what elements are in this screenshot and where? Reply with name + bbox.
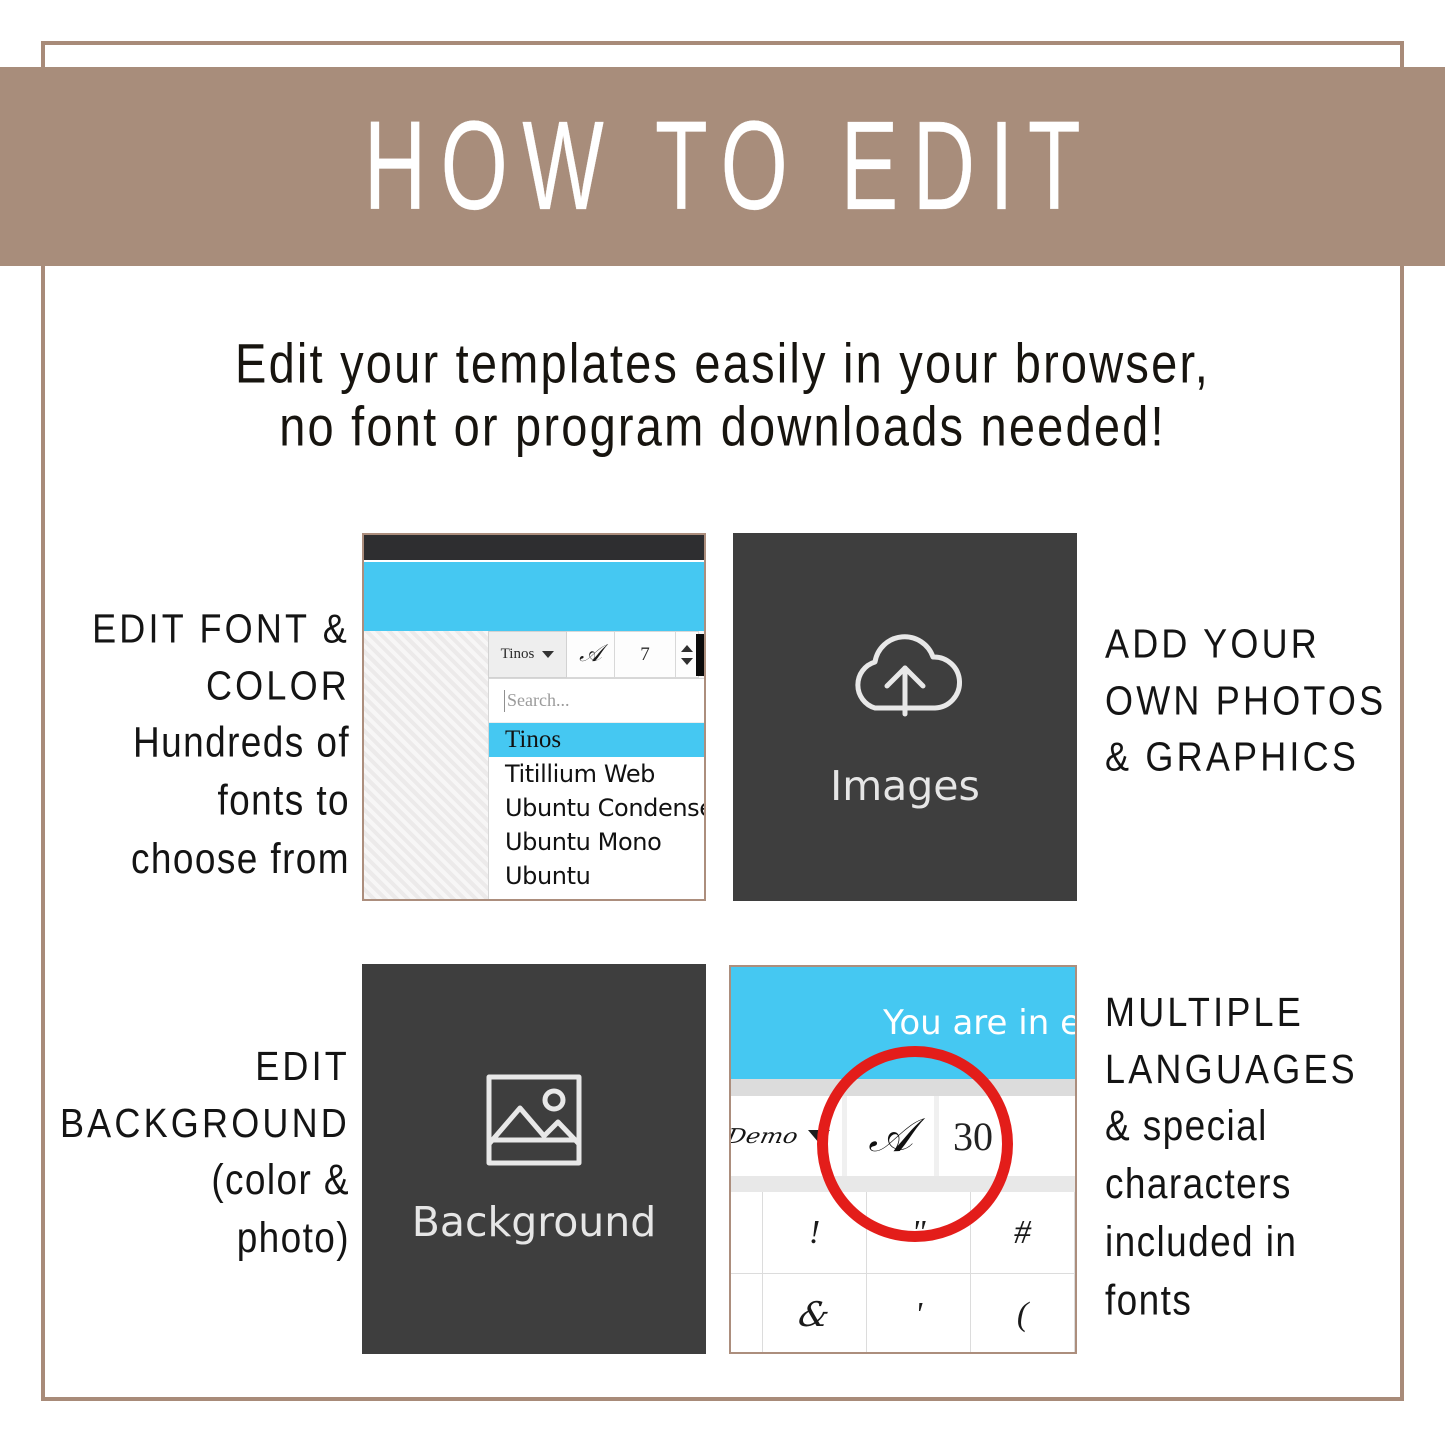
character-glyph: ': [915, 1296, 922, 1334]
character-cell[interactable]: !: [763, 1192, 867, 1274]
caption-edit-font-color: EDIT FONT & COLOR Hundreds of fonts to c…: [20, 600, 350, 888]
caption-add-photos: ADD YOUR OWN PHOTOS & GRAPHICS: [1105, 616, 1445, 786]
toolbar-color-swatch[interactable]: [696, 634, 706, 676]
images-label: Images: [830, 762, 980, 810]
caption-line: EDIT FONT &: [20, 600, 350, 657]
grid-gutter-cell: [731, 1192, 763, 1274]
font-size-input[interactable]: 30: [939, 1096, 1069, 1176]
subtitle-line-2: no font or program downloads needed!: [0, 395, 1445, 458]
editor-banner: [364, 562, 704, 631]
character-cell[interactable]: (: [971, 1274, 1075, 1354]
caption-line: characters: [1105, 1155, 1445, 1213]
character-glyph: !: [809, 1214, 820, 1252]
charmap-toolbar: Demo 𝒜 30: [731, 1096, 1075, 1176]
character-cell[interactable]: #: [971, 1192, 1075, 1274]
font-list-item[interactable]: Ubuntu Mono: [489, 825, 706, 859]
toolbar-divider: [731, 1079, 1075, 1096]
font-family-value: Tinos: [501, 646, 535, 663]
caption-line: ADD YOUR: [1105, 616, 1445, 673]
font-family-value: Demo: [729, 1124, 800, 1148]
caption-line: fonts: [1105, 1272, 1445, 1330]
character-map-screenshot: You are in e Demo 𝒜 30 ! " # & ' (: [729, 965, 1077, 1354]
caption-line: fonts to: [20, 772, 350, 830]
font-list-item[interactable]: Tinos: [489, 723, 706, 757]
grid-divider: [731, 1176, 1075, 1192]
images-panel-screenshot: Images: [733, 533, 1077, 901]
cloud-upload-icon: [841, 624, 969, 728]
caption-line: LANGUAGES: [1105, 1040, 1445, 1097]
caption-line: choose from: [20, 830, 350, 888]
chevron-down-icon[interactable]: [681, 658, 693, 665]
character-glyph: #: [1014, 1214, 1031, 1252]
caption-line: MULTIPLE: [1105, 984, 1445, 1041]
script-a-icon[interactable]: 𝒜: [567, 631, 615, 678]
caption-line: (color &: [20, 1151, 350, 1209]
editor-titlebar: [364, 535, 704, 560]
subtitle-line-1: Edit your templates easily in your brows…: [235, 332, 1210, 395]
font-family-dropdown[interactable]: Tinos: [488, 631, 567, 678]
font-list-item[interactable]: Titillium Web: [489, 757, 706, 791]
character-cell[interactable]: ": [867, 1192, 971, 1274]
caption-line: BACKGROUND: [20, 1095, 350, 1152]
caption-line: EDIT: [20, 1038, 350, 1095]
font-dropdown-panel: Search... Tinos Titillium Web Ubuntu Con…: [488, 678, 706, 901]
poster-root: HOW TO EDIT Edit your templates easily i…: [0, 0, 1445, 1445]
character-cell[interactable]: ': [867, 1274, 971, 1354]
picture-icon: [484, 1072, 584, 1168]
font-picker-screenshot: Tinos 𝒜 7 Search... Tinos Titillium Web …: [362, 533, 706, 901]
caption-line: & GRAPHICS: [1105, 729, 1445, 786]
font-toolbar: Tinos 𝒜 7: [488, 631, 706, 678]
chevron-down-icon: [542, 651, 554, 658]
font-search-input[interactable]: Search...: [489, 679, 706, 723]
banner-text: You are in e: [883, 1003, 1077, 1043]
character-glyph: ": [911, 1214, 925, 1252]
editor-banner: You are in e: [731, 967, 1075, 1079]
character-grid: ! " # & ' (: [731, 1192, 1075, 1354]
font-list: Tinos Titillium Web Ubuntu Condensed Ubu…: [489, 723, 706, 893]
font-size-input[interactable]: 7: [615, 631, 676, 678]
caption-line: photo): [20, 1209, 350, 1267]
font-family-dropdown[interactable]: Demo: [731, 1096, 847, 1176]
caption-multiple-languages: MULTIPLE LANGUAGES & special characters …: [1105, 984, 1445, 1330]
caption-line: OWN PHOTOS: [1105, 672, 1445, 729]
caption-line: COLOR: [20, 657, 350, 714]
character-glyph: (: [1017, 1296, 1028, 1334]
caption-edit-background: EDIT BACKGROUND (color & photo): [20, 1038, 350, 1268]
chevron-down-icon: [808, 1130, 830, 1143]
caption-line: included in: [1105, 1213, 1445, 1271]
caption-line: Hundreds of: [20, 714, 350, 772]
font-list-item[interactable]: Ubuntu Condensed: [489, 791, 706, 825]
grid-gutter-cell: [731, 1274, 763, 1354]
subtitle: Edit your templates easily in your brows…: [0, 332, 1445, 457]
header-band: HOW TO EDIT: [0, 67, 1445, 266]
character-cell[interactable]: &: [763, 1274, 867, 1354]
background-panel-screenshot: Background: [362, 964, 706, 1354]
chevron-up-icon[interactable]: [681, 645, 693, 652]
background-label: Background: [412, 1198, 657, 1246]
caption-line: & special: [1105, 1097, 1445, 1155]
font-list-item[interactable]: Ubuntu: [489, 859, 706, 893]
page-title: HOW TO EDIT: [350, 103, 1096, 230]
script-a-icon[interactable]: 𝒜: [847, 1096, 939, 1176]
character-glyph: &: [796, 1295, 833, 1335]
